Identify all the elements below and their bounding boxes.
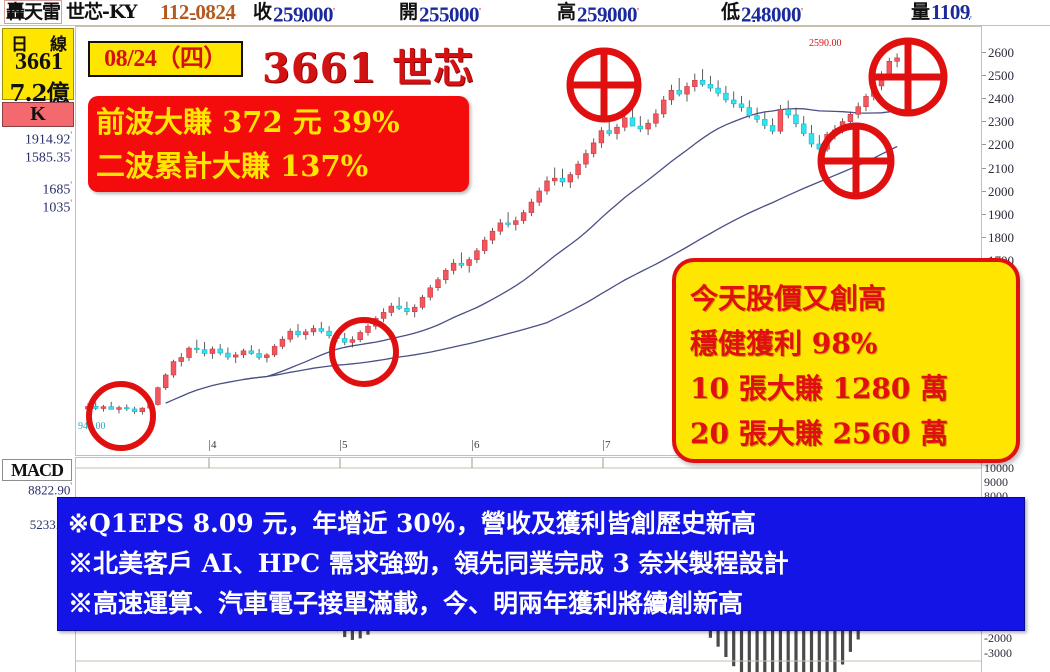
- price-axis-tickmark: [982, 52, 986, 53]
- x-tick-0: 4: [209, 440, 217, 451]
- macd-axis-tick-9000: 9000: [984, 475, 1008, 490]
- blue-callout-box: ※Q1EPS 8.09 元，年增近 30％，營收及獲利皆創歷史新高 ※北美客戶 …: [57, 497, 1025, 631]
- left-value-0: 1914.92': [0, 130, 74, 149]
- blue-callout-line-0: ※Q1EPS 8.09 元，年增近 30％，營收及獲利皆創歷史新高: [68, 504, 1024, 544]
- price-axis-tick-2500: 2500: [988, 68, 1014, 84]
- highlight-circle-2: [327, 315, 401, 389]
- highlight-circle-1: [85, 380, 157, 452]
- price-axis-tick-2000: 2000: [988, 184, 1014, 200]
- yellow-callout-line-3: 20 張大賺 2560 萬: [690, 411, 1016, 456]
- ticker-date: 112-0824: [160, 0, 235, 26]
- ticker-close-value: 259000': [273, 0, 335, 26]
- macd-axis-tick--2000: -2000: [984, 631, 1012, 646]
- price-axis-tick-2100: 2100: [988, 161, 1014, 177]
- red-callout-line-0: 前波大賺 372 元 39%: [96, 100, 469, 144]
- ticker-low-label: 低: [721, 0, 739, 26]
- price-axis-tick-1800: 1800: [988, 230, 1014, 246]
- price-axis-tickmark: [982, 144, 986, 145]
- yellow-callout-box: 今天股價又創高 穩健獲利 98% 10 張大賺 1280 萬 20 張大賺 25…: [672, 258, 1020, 463]
- price-axis-tickmark: [982, 191, 986, 192]
- crosshair-marker-2: [865, 34, 951, 120]
- crosshair-marker-3: [815, 120, 897, 202]
- price-axis-tickmark: [982, 98, 986, 99]
- high-price-tag: 2590.00: [809, 38, 842, 49]
- ticker-volume-value: 1109': [931, 0, 972, 26]
- yellow-callout-line-1: 穩健獲利 98%: [690, 321, 1016, 366]
- left-value-3: 1035': [0, 198, 74, 217]
- ticker-high-label: 高: [557, 0, 575, 26]
- period-summary-box[interactable]: 日 線 3661 7.2億: [2, 28, 74, 100]
- date-badge[interactable]: 08/24（四）: [88, 41, 243, 77]
- price-axis-tick-1900: 1900: [988, 207, 1014, 223]
- left-value-1: 1585.35': [0, 148, 74, 167]
- ticker-open-value: 255000': [419, 0, 481, 26]
- price-axis-tickmark: [982, 121, 986, 122]
- red-callout-box: 前波大賺 372 元 39% 二波累計大賺 137%: [88, 96, 469, 192]
- ticker-symbol[interactable]: 世芯-KY: [66, 0, 136, 26]
- price-axis-tickmark: [982, 237, 986, 238]
- macd-label[interactable]: MACD: [2, 459, 72, 481]
- yellow-callout-line-0: 今天股價又創高: [690, 276, 1016, 321]
- left-info-panel: 日 線 3661 7.2億 K 1914.92' 1585.35' 1685' …: [0, 26, 76, 456]
- ticker-high-value: 259000': [577, 0, 639, 26]
- page-title: 3661 世芯: [262, 36, 474, 94]
- blue-callout-line-2: ※高速運算、汽車電子接單滿載，今、明兩年獲利將續創新高: [68, 584, 1024, 624]
- x-tick-2: 6: [472, 440, 480, 451]
- macd-axis-tick-10000: 10000: [984, 461, 1014, 476]
- blue-callout-line-1: ※北美客戶 AI、HPC 需求強勁，領先同業完成 3 奈米製程設計: [68, 544, 1024, 584]
- red-callout-line-1: 二波累計大賺 137%: [96, 144, 469, 188]
- stock-code: 3661: [3, 49, 75, 76]
- crosshair-marker-1: [564, 45, 644, 125]
- x-tick-3: 7: [603, 440, 611, 451]
- ticker-close-label: 收: [253, 0, 271, 26]
- ticker-low-value: 248000': [741, 0, 803, 26]
- price-axis-tick-2600: 2600: [988, 45, 1014, 61]
- price-axis-tick-2300: 2300: [988, 114, 1014, 130]
- broker-name-badge: 轟天雷: [4, 0, 62, 26]
- macd-axis-tick--3000: -3000: [984, 646, 1012, 661]
- x-tick-1: 5: [340, 440, 348, 451]
- ticker-open-label: 開: [399, 0, 417, 26]
- price-axis-tickmark: [982, 214, 986, 215]
- price-axis-tick-2200: 2200: [988, 137, 1014, 153]
- price-axis-tickmark: [982, 168, 986, 169]
- left-value-2: 1685': [0, 180, 74, 199]
- price-axis-tick-2400: 2400: [988, 91, 1014, 107]
- ticker-bar: 轟天雷 世芯-KY 112-0824 收 259000' 開 255000' 高…: [0, 0, 1050, 26]
- price-axis-tickmark: [982, 75, 986, 76]
- stock-chart-screenshot: 轟天雷 世芯-KY 112-0824 收 259000' 開 255000' 高…: [0, 0, 1050, 672]
- indicator-k-badge[interactable]: K: [2, 102, 74, 127]
- ticker-volume-label: 量: [911, 0, 929, 26]
- macd-value-0: 8822.90': [0, 481, 74, 498]
- yellow-callout-line-2: 10 張大賺 1280 萬: [690, 366, 1016, 411]
